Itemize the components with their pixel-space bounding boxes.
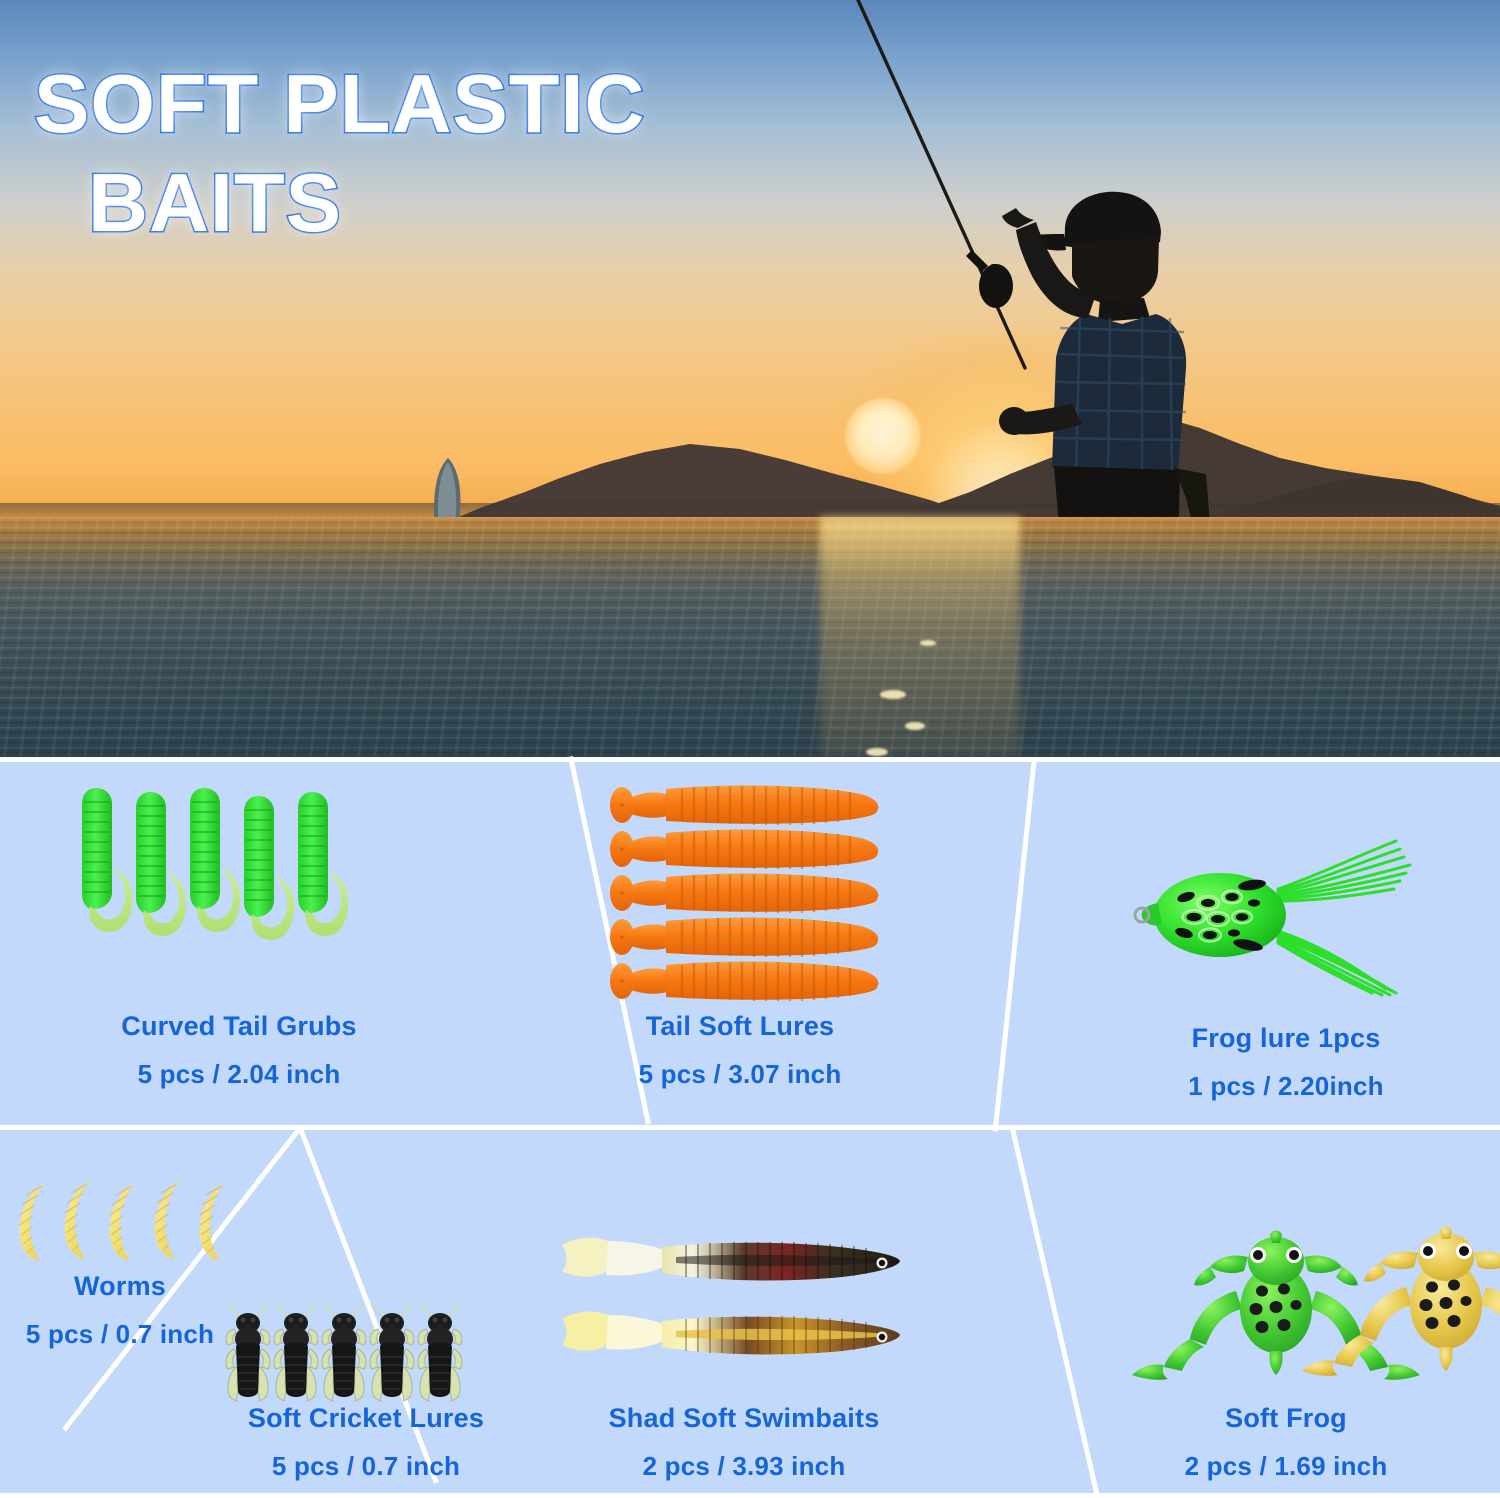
label-soft-frog: Soft Frog 2 pcs / 1.69 inch <box>1086 1405 1486 1479</box>
product-panel-grid: Curved Tail Grubs 5 pcs / 2.04 inch <box>0 757 1500 1498</box>
product-name: Tail Soft Lures <box>520 1013 960 1040</box>
product-name: Curved Tail Grubs <box>24 1013 454 1040</box>
shad-soft-swimbaits-image <box>556 1231 926 1391</box>
divider-horizontal-top-row <box>0 757 1500 762</box>
product-name: Shad Soft Swimbaits <box>524 1405 964 1432</box>
worms-image <box>16 1177 252 1265</box>
label-worms: Worms 5 pcs / 0.7 inch <box>0 1273 240 1347</box>
product-spec: 2 pcs / 3.93 inch <box>524 1453 964 1479</box>
hero-image: SOFT PLASTIC BAITS <box>0 0 1500 757</box>
frog-lure-image <box>1128 819 1458 1019</box>
curved-tail-grubs-image <box>78 782 388 992</box>
sun-reflection-path <box>820 517 1020 757</box>
product-spec: 5 pcs / 0.7 inch <box>0 1321 240 1347</box>
label-shad-soft-swimbaits: Shad Soft Swimbaits 2 pcs / 3.93 inch <box>524 1405 964 1479</box>
label-tail-soft-lures: Tail Soft Lures 5 pcs / 3.07 inch <box>520 1013 960 1087</box>
water-ripple-texture-diagonal <box>0 517 1500 757</box>
page-title: SOFT PLASTIC BAITS <box>34 62 934 245</box>
soft-frog-image <box>1130 1219 1480 1399</box>
product-name: Frog lure 1pcs <box>1086 1025 1486 1052</box>
product-name: Soft Cricket Lures <box>196 1405 536 1432</box>
water-sparkle <box>880 690 906 699</box>
divider-horizontal-mid <box>0 1125 1500 1130</box>
product-name: Worms <box>0 1273 240 1300</box>
divider-bottom-edge <box>0 1493 1500 1498</box>
label-frog-lure: Frog lure 1pcs 1 pcs / 2.20inch <box>1086 1025 1486 1099</box>
title-line-2: BAITS <box>88 161 934 246</box>
label-curved-tail-grubs: Curved Tail Grubs 5 pcs / 2.04 inch <box>24 1013 454 1087</box>
lake-water <box>0 517 1500 757</box>
product-name: Soft Frog <box>1086 1405 1486 1432</box>
product-spec: 5 pcs / 0.7 inch <box>196 1453 536 1479</box>
water-sparkle <box>905 722 925 730</box>
water-sparkle <box>866 748 888 756</box>
product-spec: 5 pcs / 3.07 inch <box>520 1061 960 1087</box>
divider-lures-frog <box>993 757 1037 1131</box>
tail-soft-lures-image <box>608 781 908 1007</box>
soft-cricket-lures-image <box>222 1297 476 1409</box>
product-spec: 5 pcs / 2.04 inch <box>24 1061 454 1087</box>
label-soft-cricket-lures: Soft Cricket Lures 5 pcs / 0.7 inch <box>196 1405 536 1479</box>
title-line-1: SOFT PLASTIC <box>34 57 645 150</box>
product-spec: 2 pcs / 1.69 inch <box>1086 1453 1486 1479</box>
water-sparkle <box>920 640 936 646</box>
product-spec: 1 pcs / 2.20inch <box>1086 1073 1486 1099</box>
product-infographic: SOFT PLASTIC BAITS <box>0 0 1500 1498</box>
